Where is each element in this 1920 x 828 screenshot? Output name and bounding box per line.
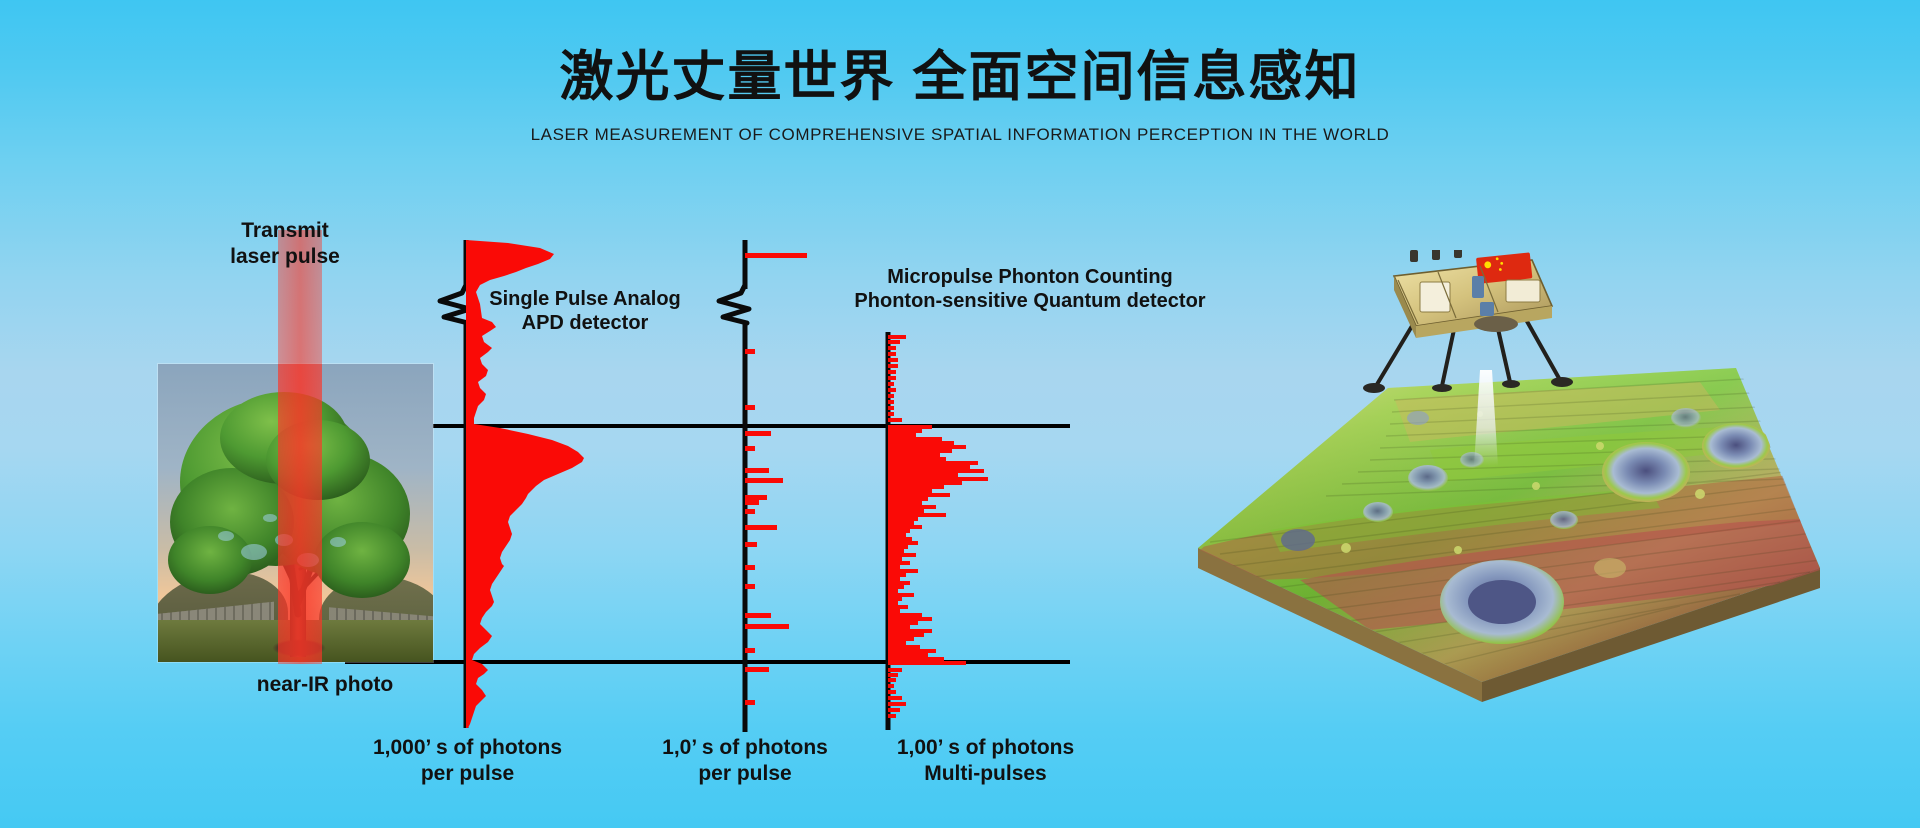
photon-bar [888,637,914,641]
photon-bar [745,253,807,258]
photon-bar [888,335,906,339]
photon-bar [888,657,944,661]
photon-bar [888,668,902,672]
photon-bar [888,601,898,605]
photon-bar [888,346,896,350]
photon-bar [745,700,755,705]
lidar-waveform-diagram: Transmit laser pulse near-IR photo Singl… [0,0,1100,828]
photon-bar [888,577,900,581]
photon-bar [888,702,906,706]
photon-bar [745,405,755,410]
photon-bar [888,557,902,561]
photon-bar [888,597,902,601]
waveform-panel-micropulse-photon-counting [888,332,988,730]
photon-bar [888,537,912,541]
photon-bar [888,629,932,633]
photon-bar [745,542,757,547]
photon-bar [888,364,898,368]
photon-bar [888,653,928,657]
photon-bar [888,449,952,453]
photon-bar [888,545,908,549]
photon-bar [888,525,922,529]
photon-bar [888,469,984,473]
axis-break-symbol [719,285,749,323]
photon-bar [888,501,922,505]
photon-bar [745,509,755,514]
photon-bar [888,585,904,589]
photon-bar [888,684,894,688]
photon-bar [888,412,894,416]
photon-bar [888,400,894,404]
terrain-surface [1198,368,1820,702]
photon-bar [888,565,900,569]
photon-bar [745,624,789,629]
photon-bar [888,613,922,617]
photon-bar [888,617,932,621]
photon-bar [888,394,894,398]
photon-bar [888,589,898,593]
photon-bar [888,641,906,645]
photon-bar [888,521,914,525]
photon-bar [888,569,918,573]
photon-bar [745,495,767,500]
axis-break-symbol [440,285,470,323]
photon-bar [888,561,910,565]
photon-bar [888,370,896,374]
waveform-fill [466,240,584,728]
photon-bar [888,529,910,533]
photon-bar [888,509,924,513]
photon-bar [888,425,932,429]
waveform-plots [0,0,1100,828]
photon-bar [745,500,759,505]
photon-bar [888,690,896,694]
photon-bar [888,581,910,585]
photon-bar [888,593,914,597]
photon-bar [888,453,940,457]
photon-bar [888,457,946,461]
photon-bar [745,667,769,672]
photon-bar [888,605,908,609]
photon-bar [888,517,918,521]
photon-bar [888,418,902,422]
photon-bar [888,673,898,677]
photon-bar [888,513,946,517]
photon-bar [888,461,978,465]
waveform-panel-sparse-photon-counting [719,240,807,732]
photon-bar [888,645,920,649]
photon-bar [745,525,777,530]
photon-bar [888,714,896,718]
photon-bar [888,485,944,489]
photon-bar [888,549,904,553]
photon-bar [888,633,924,637]
photon-bar [745,613,771,618]
photon-bar [888,433,916,437]
photon-bar [888,661,966,665]
photon-bar [745,648,755,653]
photon-bar [888,473,958,477]
photon-bar [888,388,896,392]
photon-bar [745,478,783,483]
photon-bar [888,625,910,629]
photon-bar [888,358,898,362]
photon-bar [888,352,896,356]
photon-bar [888,621,918,625]
photon-bar [888,481,962,485]
photon-bar [888,437,942,441]
photon-bar [745,584,755,589]
photon-bar [888,406,894,410]
photon-bar [745,468,769,473]
lunar-terrain-3d-model [1180,250,1820,730]
photon-bar [888,376,896,380]
photon-bar [745,431,771,436]
waveform-panel-single-pulse-analog-apd [440,240,584,728]
photon-bar [888,340,900,344]
photon-bar [888,465,970,469]
photon-bar [888,445,966,449]
photon-bar [888,493,950,497]
photon-bar [888,429,922,433]
photon-bar [888,441,954,445]
photon-bar [745,565,755,570]
photon-bar [888,573,906,577]
photon-bar [888,382,894,386]
photon-bar [745,446,755,451]
photon-bar [888,541,918,545]
photon-bar [888,553,916,557]
photon-bar [888,505,936,509]
photon-bar [888,678,896,682]
photon-bar [888,708,900,712]
photon-bar [888,609,900,613]
photon-bar [888,696,902,700]
photon-bar [888,649,936,653]
photon-bar [888,497,928,501]
photon-bar [888,489,932,493]
photon-bar [888,477,988,481]
photon-bar [745,349,755,354]
descent-engine [1474,316,1518,332]
photon-bar [888,533,906,537]
